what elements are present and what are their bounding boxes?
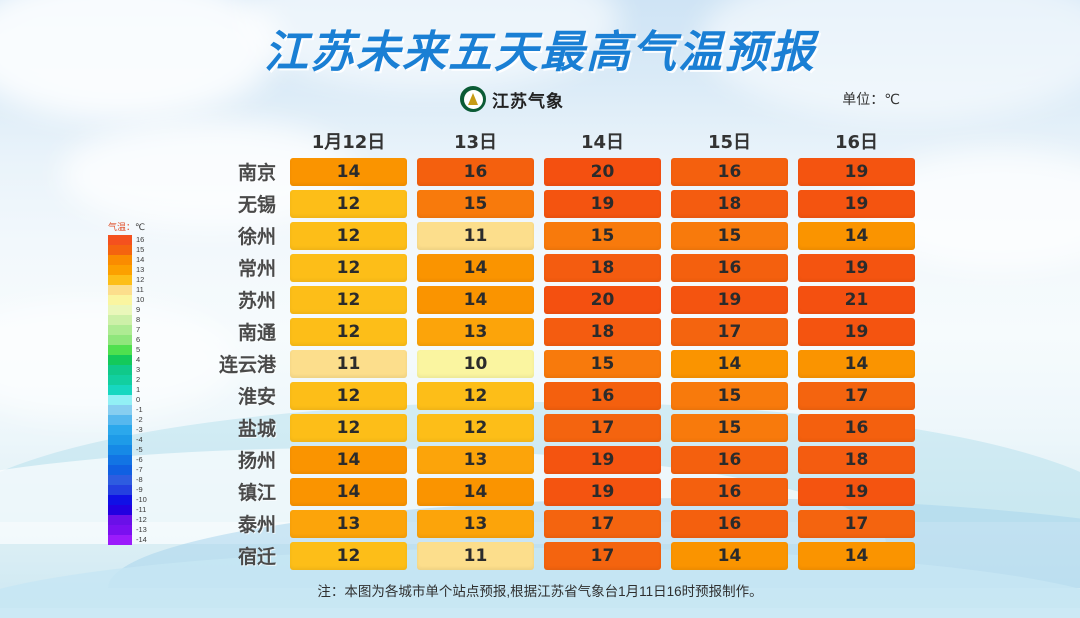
temperature-cell: 19 xyxy=(544,478,661,506)
temperature-cell: 19 xyxy=(798,478,915,506)
unit-label: 单位：℃ xyxy=(842,89,900,109)
temperature-cell: 14 xyxy=(798,222,915,250)
column-header-date: 14日 xyxy=(544,128,661,154)
temperature-cell: 16 xyxy=(671,446,788,474)
table-row: 连云港1110151414 xyxy=(0,348,1080,379)
temperature-cell: 19 xyxy=(798,158,915,186)
logo-label: 江苏气象 xyxy=(492,87,564,112)
temperature-cell: 12 xyxy=(290,542,407,570)
temperature-cell: 19 xyxy=(544,446,661,474)
temperature-cell: 21 xyxy=(798,286,915,314)
city-label: 常州 xyxy=(190,254,290,281)
temperature-cell: 16 xyxy=(671,478,788,506)
temperature-cell: 12 xyxy=(417,382,534,410)
temperature-cell: 12 xyxy=(290,286,407,314)
temperature-cell: 12 xyxy=(290,222,407,250)
table-row: 宿迁1211171414 xyxy=(0,540,1080,571)
temperature-cell: 18 xyxy=(798,446,915,474)
temperature-cell: 17 xyxy=(798,510,915,538)
page-title: 江苏未来五天最高气温预报 xyxy=(0,16,1080,80)
table-row: 扬州1413191618 xyxy=(0,444,1080,475)
temperature-cell: 17 xyxy=(671,318,788,346)
table-row: 常州1214181619 xyxy=(0,252,1080,283)
city-label: 镇江 xyxy=(190,478,290,505)
temperature-cell: 16 xyxy=(417,158,534,186)
logo-row: 江苏气象 单位：℃ xyxy=(0,86,1080,116)
temperature-cell: 12 xyxy=(290,414,407,442)
city-label: 南通 xyxy=(190,318,290,345)
table-row: 南京1416201619 xyxy=(0,156,1080,187)
column-header-date: 16日 xyxy=(798,128,915,154)
temperature-cell: 14 xyxy=(290,158,407,186)
temperature-cell: 20 xyxy=(544,158,661,186)
temperature-cell: 15 xyxy=(544,222,661,250)
table-header-row: 1月12日13日14日15日16日 xyxy=(0,126,1080,156)
temperature-cell: 14 xyxy=(798,350,915,378)
city-label: 盐城 xyxy=(190,414,290,441)
temperature-cell: 13 xyxy=(417,318,534,346)
table-row: 泰州1313171617 xyxy=(0,508,1080,539)
table-body: 南京1416201619无锡1215191819徐州1211151514常州12… xyxy=(0,156,1080,571)
temperature-cell: 19 xyxy=(798,318,915,346)
temperature-cell: 19 xyxy=(798,190,915,218)
city-label: 扬州 xyxy=(190,446,290,473)
temperature-cell: 19 xyxy=(671,286,788,314)
temperature-cell: 15 xyxy=(671,414,788,442)
temperature-cell: 14 xyxy=(798,542,915,570)
temperature-cell: 19 xyxy=(544,190,661,218)
table-row: 盐城1212171516 xyxy=(0,412,1080,443)
temperature-cell: 12 xyxy=(290,254,407,282)
temperature-cell: 11 xyxy=(417,542,534,570)
temperature-cell: 17 xyxy=(544,510,661,538)
temperature-cell: 14 xyxy=(417,478,534,506)
table-row: 南通1213181719 xyxy=(0,316,1080,347)
table-row: 徐州1211151514 xyxy=(0,220,1080,251)
city-label: 淮安 xyxy=(190,382,290,409)
temperature-cell: 18 xyxy=(671,190,788,218)
temperature-cell: 17 xyxy=(544,542,661,570)
temperature-cell: 16 xyxy=(544,382,661,410)
temperature-cell: 14 xyxy=(290,446,407,474)
temperature-cell: 15 xyxy=(417,190,534,218)
brand-logo: 江苏气象 xyxy=(460,86,564,112)
temperature-cell: 12 xyxy=(290,190,407,218)
temperature-cell: 15 xyxy=(671,382,788,410)
forecast-table: 1月12日13日14日15日16日 南京1416201619无锡12151918… xyxy=(0,126,1080,572)
footer-note: 注：本图为各城市单个站点预报,根据江苏省气象台1月11日16时预报制作。 xyxy=(0,580,1080,600)
temperature-cell: 16 xyxy=(798,414,915,442)
temperature-cell: 11 xyxy=(417,222,534,250)
temperature-cell: 11 xyxy=(290,350,407,378)
temperature-cell: 14 xyxy=(417,254,534,282)
table-row: 淮安1212161517 xyxy=(0,380,1080,411)
column-header-date: 13日 xyxy=(417,128,534,154)
temperature-cell: 14 xyxy=(671,542,788,570)
city-label: 泰州 xyxy=(190,510,290,537)
temperature-cell: 13 xyxy=(417,510,534,538)
temperature-cell: 14 xyxy=(290,478,407,506)
city-label: 苏州 xyxy=(190,286,290,313)
header-date-cells: 1月12日13日14日15日16日 xyxy=(290,128,925,154)
jiangsu-meteorology-badge-icon xyxy=(460,86,486,112)
temperature-cell: 20 xyxy=(544,286,661,314)
temperature-cell: 14 xyxy=(417,286,534,314)
temperature-cell: 10 xyxy=(417,350,534,378)
temperature-cell: 15 xyxy=(544,350,661,378)
temperature-cell: 18 xyxy=(544,254,661,282)
city-label: 连云港 xyxy=(190,350,290,377)
temperature-cell: 16 xyxy=(671,158,788,186)
temperature-cell: 17 xyxy=(798,382,915,410)
temperature-cell: 16 xyxy=(671,510,788,538)
temperature-cell: 17 xyxy=(544,414,661,442)
temperature-cell: 12 xyxy=(290,382,407,410)
city-label: 宿迁 xyxy=(190,542,290,569)
column-header-date: 1月12日 xyxy=(290,128,407,154)
temperature-cell: 14 xyxy=(671,350,788,378)
temperature-cell: 13 xyxy=(417,446,534,474)
table-row: 苏州1214201921 xyxy=(0,284,1080,315)
city-label: 南京 xyxy=(190,158,290,185)
temperature-cell: 15 xyxy=(671,222,788,250)
temperature-cell: 16 xyxy=(671,254,788,282)
temperature-cell: 12 xyxy=(290,318,407,346)
temperature-cell: 18 xyxy=(544,318,661,346)
table-row: 无锡1215191819 xyxy=(0,188,1080,219)
table-row: 镇江1414191619 xyxy=(0,476,1080,507)
city-label: 徐州 xyxy=(190,222,290,249)
column-header-date: 15日 xyxy=(671,128,788,154)
temperature-cell: 13 xyxy=(290,510,407,538)
temperature-cell: 19 xyxy=(798,254,915,282)
temperature-cell: 12 xyxy=(417,414,534,442)
city-label: 无锡 xyxy=(190,190,290,217)
